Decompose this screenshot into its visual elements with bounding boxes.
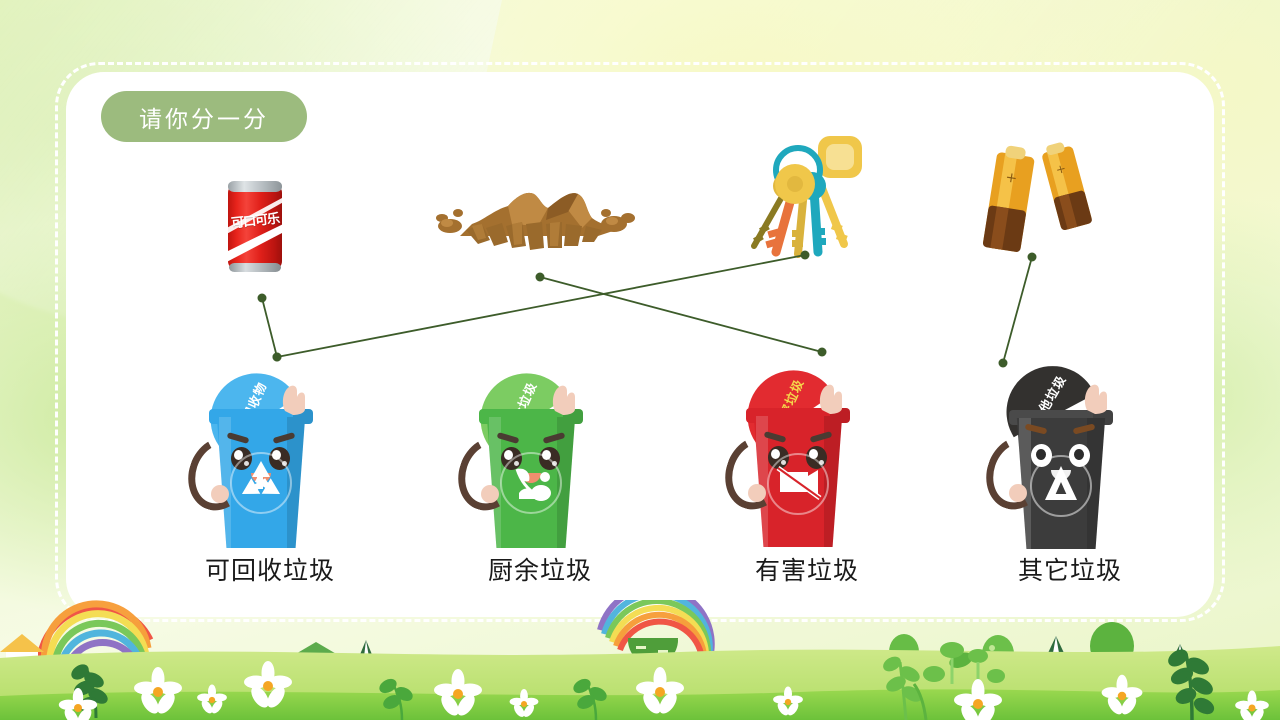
can-body: 可口可乐 — [228, 186, 282, 268]
bin-other-hand-right — [1081, 380, 1111, 414]
bin-recyclable-label: 可回收垃圾 — [185, 551, 355, 587]
slide-stage: 请你分一分 可口可乐 — [0, 0, 1280, 720]
svg-text:+: + — [1004, 169, 1018, 187]
can-top — [228, 181, 282, 192]
can-bottom — [229, 263, 281, 272]
item-soil-pile[interactable] — [420, 180, 636, 258]
soil-pile-icon — [420, 180, 636, 258]
other-waste-icon — [1027, 452, 1095, 520]
batteries-icon: + + — [968, 142, 1102, 260]
page-title-badge: 请你分一分 — [101, 91, 307, 142]
can-brand-text: 可口可乐 — [228, 207, 282, 232]
item-can[interactable]: 可口可乐 — [224, 178, 286, 274]
keys-icon — [740, 134, 874, 262]
bin-kitchen-hand-right — [549, 381, 579, 415]
harmful-waste-icon — [764, 450, 832, 518]
bin-kitchen-label: 厨余垃圾 — [455, 551, 625, 587]
meadow-decoration — [0, 600, 1280, 720]
bin-harmful-hand-right — [816, 380, 846, 414]
bin-recyclable[interactable]: 可回收物 可回收垃圾 — [185, 345, 355, 560]
item-batteries[interactable]: + + — [968, 142, 1102, 260]
page-title: 请你分一分 — [139, 100, 269, 134]
bin-harmful[interactable]: 有害垃圾 有害垃圾 — [722, 340, 892, 555]
bin-other-label: 其它垃圾 — [985, 551, 1155, 587]
bin-recyclable-hand-right — [279, 381, 309, 415]
bin-other[interactable]: 其他垃圾 其它垃圾 — [985, 340, 1155, 555]
item-keys[interactable] — [740, 134, 874, 262]
bin-kitchen[interactable]: 厨余垃圾 厨余垃圾 — [455, 345, 625, 560]
recycle-icon — [227, 449, 295, 517]
bin-harmful-label: 有害垃圾 — [722, 551, 892, 587]
bin-other-hand-left — [1009, 484, 1027, 502]
kitchen-waste-icon — [497, 449, 565, 517]
